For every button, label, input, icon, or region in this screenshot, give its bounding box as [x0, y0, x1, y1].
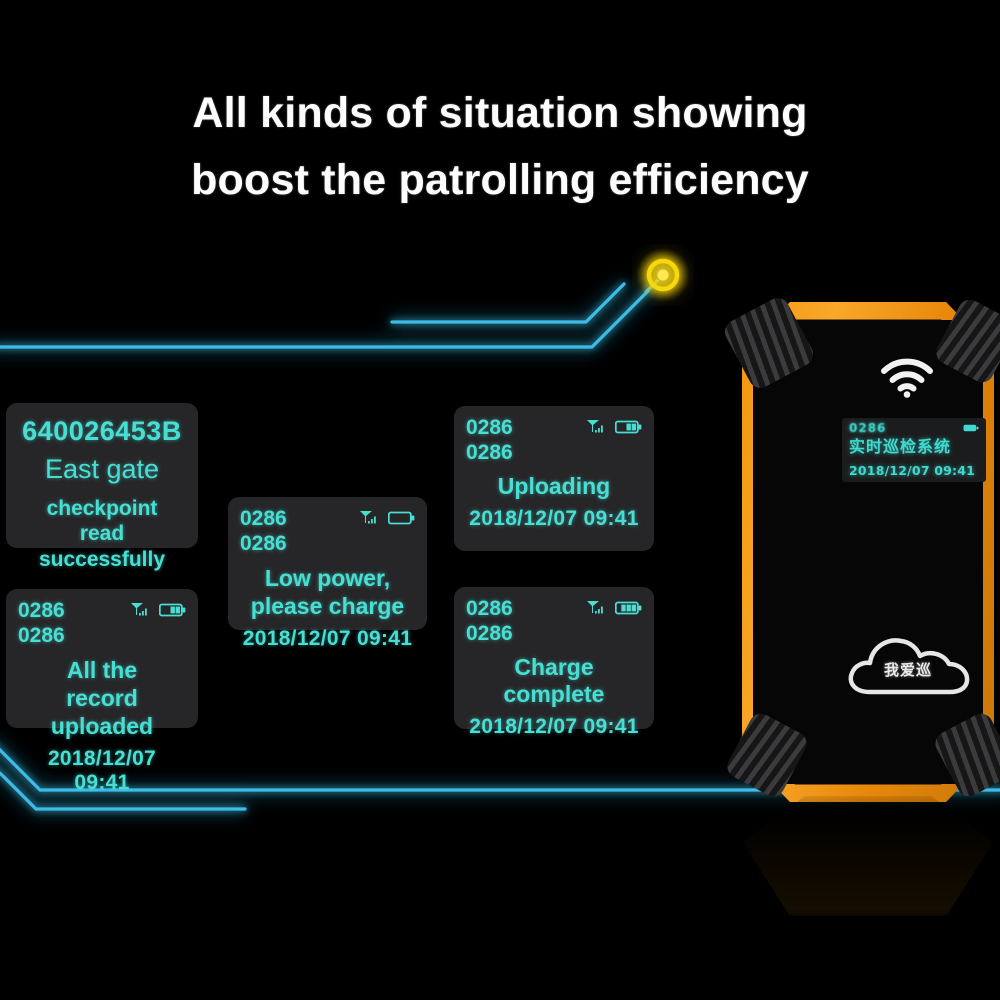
patrol-device: 0286 实时巡检系统 2018/12/07 09:41 我爱巡: [712, 296, 1000, 816]
glow-node-icon: [636, 248, 690, 302]
status-card-uploading: 0286 0286 Uploading 2018/12/07 09: [454, 406, 654, 551]
low-power-line-2: please charge: [240, 592, 415, 620]
cloud-icon: 我爱巡: [844, 628, 972, 702]
device-oled-screen: 0286 实时巡检系统 2018/12/07 09:41: [842, 418, 986, 482]
device-code-line-1: 0286: [240, 507, 287, 532]
circuit-upper-inner-2: [392, 284, 624, 322]
uploading-status: Uploading: [466, 473, 642, 500]
checkpoint-status-line-1: checkpoint: [18, 496, 186, 522]
battery-icon: [159, 603, 186, 617]
checkpoint-location: East gate: [18, 454, 186, 486]
oled-timestamp: 2018/12/07 09:41: [849, 463, 979, 478]
page-title: All kinds of situation showing boost the…: [0, 80, 1000, 213]
status-icons: [359, 507, 415, 525]
device-code-line-2: 0286: [466, 441, 513, 466]
status-card-checkpoint: 640026453B East gate checkpoint read suc…: [6, 403, 198, 548]
device-code-line-1: 0286: [18, 599, 65, 624]
all-uploaded-timestamp: 2018/12/07 09:41: [18, 747, 186, 797]
signal-bars-icon: [130, 602, 150, 617]
device-code-line-1: 0286: [466, 416, 513, 441]
oled-system-title: 实时巡检系统: [849, 433, 951, 457]
status-icons: [586, 597, 642, 615]
circuit-upper-outer: [0, 291, 648, 347]
device-front-panel: [753, 320, 983, 784]
device-code-line-2: 0286: [240, 532, 287, 557]
status-card-low-power: 0286 0286 Low power, please charge 201: [228, 497, 427, 630]
battery-icon: [388, 511, 415, 525]
status-icons: [130, 599, 186, 617]
battery-icon: [615, 601, 642, 615]
device-code-line-2: 0286: [18, 624, 65, 649]
device-code: 0286 0286: [240, 507, 287, 557]
device-code: 0286 0286: [466, 416, 513, 466]
battery-icon: [963, 424, 979, 432]
checkpoint-tag-id: 640026453B: [18, 416, 186, 448]
device-code: 0286 0286: [466, 597, 513, 647]
status-card-charge-complete: 0286 0286 Charge complete: [454, 587, 654, 729]
headline-line-2: boost the patrolling efficiency: [0, 147, 1000, 214]
device-code: 0286 0286: [18, 599, 65, 649]
device-code-line-1: 0286: [466, 597, 513, 622]
battery-icon: [615, 420, 642, 434]
device-reflection: [742, 796, 994, 916]
all-uploaded-line-1: All the: [18, 656, 186, 684]
status-icons: [586, 416, 642, 434]
device-code-line-2: 0286: [466, 622, 513, 647]
oled-device-code: 0286: [849, 422, 951, 435]
signal-bars-icon: [586, 419, 606, 434]
checkpoint-status-line-2: read successfully: [18, 521, 186, 572]
charge-complete-timestamp: 2018/12/07 09:41: [466, 715, 642, 740]
all-uploaded-line-2: record uploaded: [18, 684, 186, 740]
charge-complete-status: Charge complete: [466, 654, 642, 708]
promo-stage: All kinds of situation showing boost the…: [0, 0, 1000, 1000]
signal-bars-icon: [586, 600, 606, 615]
low-power-line-1: Low power,: [240, 564, 415, 592]
uploading-timestamp: 2018/12/07 09:41: [466, 507, 642, 532]
cloud-logo-text: 我爱巡: [844, 659, 972, 680]
headline-line-1: All kinds of situation showing: [0, 80, 1000, 147]
wifi-icon: [878, 356, 936, 398]
status-card-all-uploaded: 0286 0286 All the record: [6, 589, 198, 728]
circuit-node-stub: [646, 281, 657, 292]
signal-bars-icon: [359, 510, 379, 525]
low-power-timestamp: 2018/12/07 09:41: [240, 627, 415, 652]
